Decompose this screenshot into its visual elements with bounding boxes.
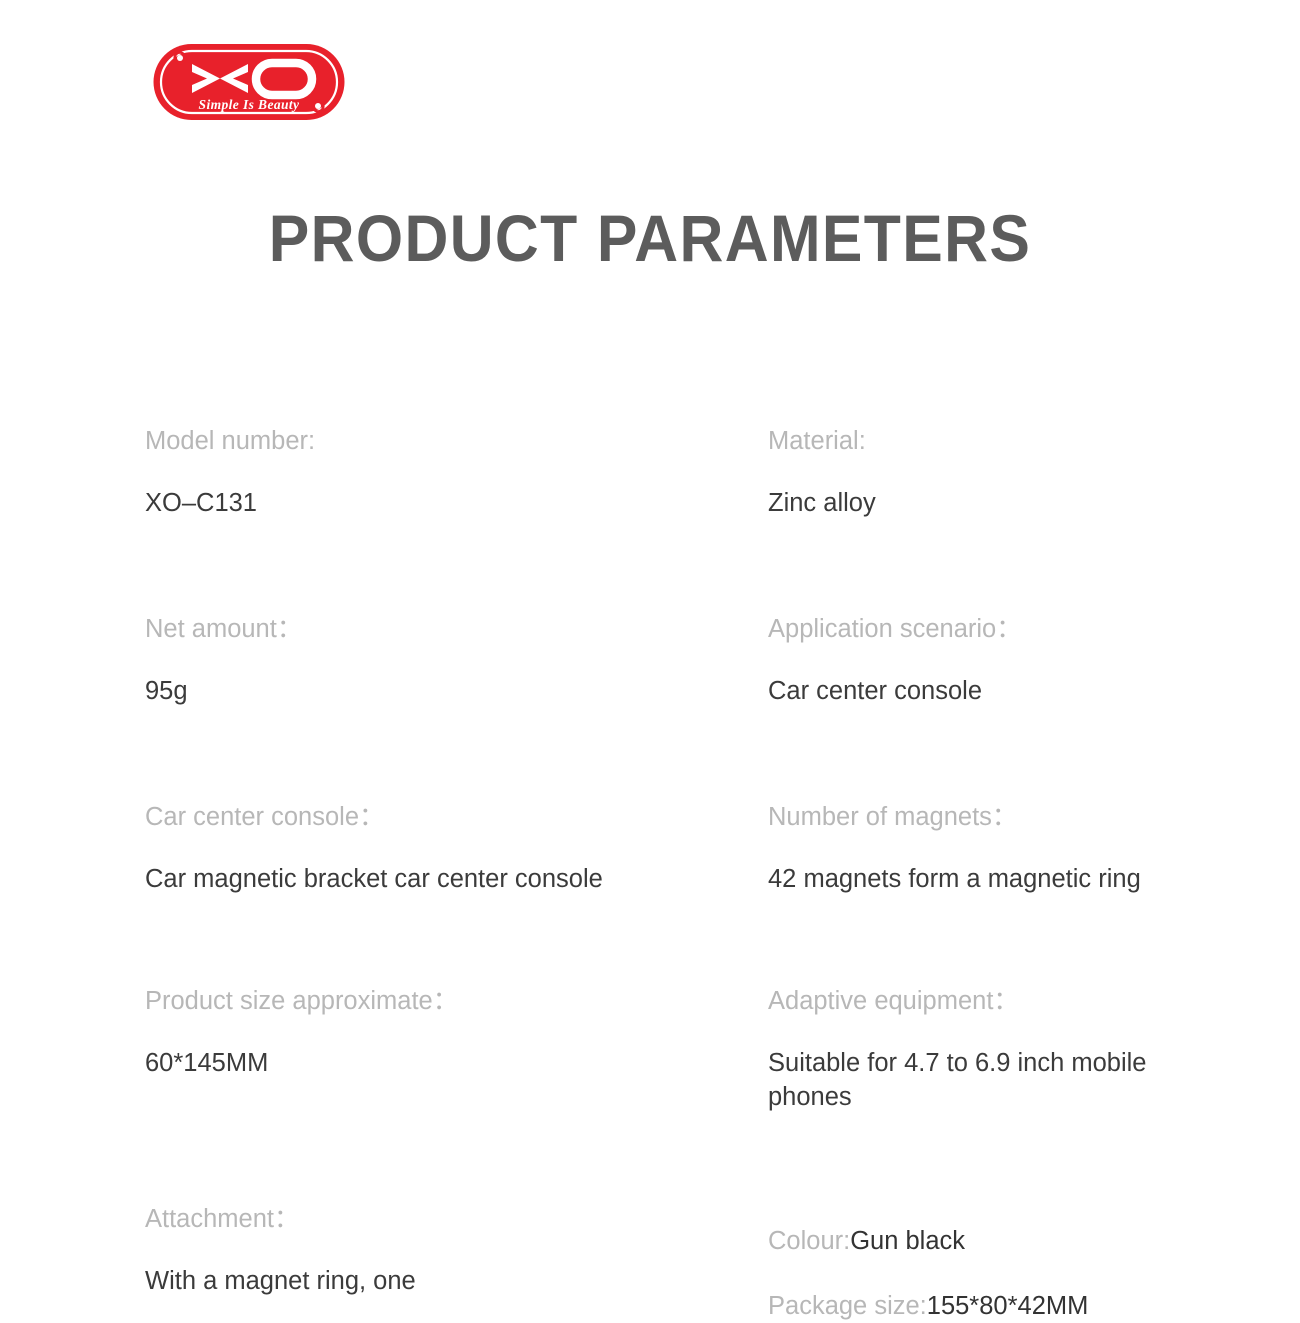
spec-label: Application scenario： bbox=[768, 612, 1225, 646]
spec-label: Package size: bbox=[768, 1292, 927, 1320]
spec-label: Number of magnets： bbox=[768, 800, 1225, 834]
spec-value: 60*145MM bbox=[145, 1046, 745, 1080]
row-spacer bbox=[145, 520, 768, 612]
spec-item-material: Material: Zinc alloy bbox=[768, 424, 1225, 520]
row-spacer bbox=[768, 520, 1225, 612]
row-spacer bbox=[768, 896, 1225, 984]
spec-value: Car magnetic bracket car center console bbox=[145, 862, 745, 896]
spec-value: Gun black bbox=[850, 1227, 965, 1255]
spec-label: Car center console： bbox=[145, 800, 768, 834]
spec-inline-package-size: Package size:155*80*42MM bbox=[768, 1289, 1225, 1323]
spec-value: 95g bbox=[145, 674, 745, 708]
logo-tagline-text: Simple Is Beauty bbox=[199, 97, 301, 112]
brand-logo: Simple Is Beauty bbox=[152, 42, 346, 122]
product-parameters-grid: Model number: XO–C131 Material: Zinc all… bbox=[145, 424, 1225, 1323]
spec-item-car-center-console: Car center console： Car magnetic bracket… bbox=[145, 800, 768, 896]
spec-value: 155*80*42MM bbox=[927, 1292, 1089, 1320]
spec-item-model-number: Model number: XO–C131 bbox=[145, 424, 768, 520]
spec-value: Suitable for 4.7 to 6.9 inch mobile phon… bbox=[768, 1046, 1198, 1114]
page-title: PRODUCT PARAMETERS bbox=[52, 196, 1248, 280]
spec-label: Material: bbox=[768, 424, 1225, 458]
spec-label: Net amount： bbox=[145, 612, 768, 646]
row-spacer bbox=[768, 1114, 1225, 1202]
spec-label: Adaptive equipment： bbox=[768, 984, 1225, 1018]
spec-item-number-of-magnets: Number of magnets： 42 magnets form a mag… bbox=[768, 800, 1225, 896]
spec-item-net-amount: Net amount： 95g bbox=[145, 612, 768, 708]
spec-value: With a magnet ring, one bbox=[145, 1264, 745, 1298]
spec-label: Model number: bbox=[145, 424, 768, 458]
spec-item-attachment: Attachment： With a magnet ring, one bbox=[145, 1202, 768, 1323]
row-spacer bbox=[145, 1114, 768, 1202]
spec-value: Car center console bbox=[768, 674, 1198, 708]
xo-logo-icon: Simple Is Beauty bbox=[152, 42, 346, 122]
spec-item-adaptive-equipment: Adaptive equipment： Suitable for 4.7 to … bbox=[768, 984, 1225, 1114]
spec-item-colour-and-package: Colour:Gun black Package size:155*80*42M… bbox=[768, 1202, 1225, 1323]
spec-inline-colour: Colour:Gun black bbox=[768, 1224, 1225, 1258]
spec-value: 42 magnets form a magnetic ring bbox=[768, 862, 1198, 896]
row-spacer bbox=[145, 708, 768, 800]
spec-label: Attachment： bbox=[145, 1202, 768, 1236]
spec-item-application-scenario: Application scenario： Car center console bbox=[768, 612, 1225, 708]
spec-item-product-size: Product size approximate： 60*145MM bbox=[145, 984, 768, 1114]
spec-value: Zinc alloy bbox=[768, 486, 1198, 520]
spec-label: Colour: bbox=[768, 1227, 850, 1255]
spec-label: Product size approximate： bbox=[145, 984, 768, 1018]
row-spacer bbox=[145, 896, 768, 984]
row-spacer bbox=[768, 708, 1225, 800]
spec-value: XO–C131 bbox=[145, 486, 745, 520]
